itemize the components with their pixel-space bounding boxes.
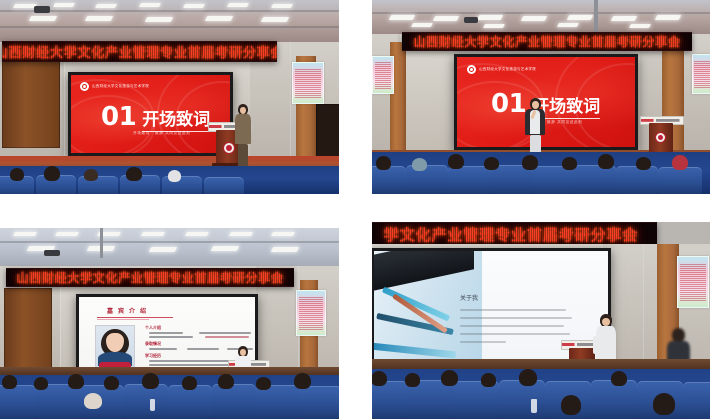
slide-logo: 山西财经大学文化旅游与艺术学院	[467, 65, 536, 74]
slide-bullet-3: 学习经历	[145, 353, 161, 359]
slide-bullet-2: 录取情况	[145, 341, 161, 347]
dark-doorway	[316, 104, 339, 162]
wall-poster	[677, 256, 709, 308]
audience-area	[0, 367, 339, 419]
audience-area	[371, 359, 710, 419]
auditorium-scene: 山西财经大学文化产业管理专业首届考研分享会 山西财经大学文化旅游与艺术学院 01…	[372, 0, 710, 194]
slide-number: 01	[101, 104, 136, 130]
row-gutter-right	[371, 194, 710, 222]
slide-heading: 开场致词	[142, 112, 210, 132]
photo-bottom-right[interactable]: 学文化产业管理专业首届考研分享会 关于我	[371, 222, 710, 419]
wall-poster	[372, 56, 394, 94]
projector-pipe	[594, 0, 598, 34]
projector-icon	[44, 250, 60, 256]
led-banner: 山西财经大学文化产业管理专业首届考研分享会	[6, 268, 294, 287]
wall-poster	[292, 62, 324, 104]
stage-led-screen: 山西财经大学文化旅游与艺术学院 01 开场致词 开场致词 · 致辞 共同见证此刻	[454, 54, 638, 150]
led-banner: 山西财经大学文化产业管理专业首届考研分享会	[2, 41, 277, 62]
auditorium-scene: 学文化产业管理专业首届考研分享会 关于我	[371, 222, 710, 419]
audience-area	[372, 152, 710, 194]
wall-poster	[692, 54, 710, 94]
slide-number: 01	[491, 91, 526, 117]
slide-headline: 01 开场致词	[101, 104, 210, 132]
row-gutter-left	[0, 194, 339, 228]
slide-logo-text: 山西财经大学文化旅游与艺术学院	[479, 67, 536, 72]
slide-title: 嘉宾介绍	[107, 306, 151, 315]
photo-top-left[interactable]: 山西财经大学文化产业管理专业首届考研分享会 山西财经大学文化旅游与艺术学院 01…	[0, 0, 339, 194]
ceiling	[0, 0, 339, 42]
auditorium-scene: 山西财经大学文化产业管理专业首届考研分享会 山西财经大学文化旅游与艺术学院 01…	[0, 0, 339, 194]
speaker-standing	[524, 98, 546, 158]
slide-logo-text: 山西财经大学文化旅游与艺术学院	[92, 84, 149, 89]
slide-bullet-1: 个人介绍	[145, 325, 161, 331]
slide-subtitle: 开场致词 · 致辞 共同见证此刻	[133, 131, 190, 136]
guest-headshot	[95, 325, 135, 371]
led-banner-text: 山西财经大学文化产业管理专业首届考研分享会	[413, 33, 680, 50]
slide-logo: 山西财经大学文化旅游与艺术学院	[80, 82, 149, 91]
projector-icon	[464, 17, 478, 23]
led-banner-text: 山西财经大学文化产业管理专业首届考研分享会	[16, 269, 283, 286]
projector-icon	[34, 6, 50, 13]
led-banner-text: 山西财经大学文化产业管理专业首届考研分享会	[2, 42, 277, 61]
led-banner: 学文化产业管理专业首届考研分享会	[371, 222, 657, 246]
audience-area	[0, 166, 339, 194]
side-door	[4, 288, 52, 374]
wall-poster	[296, 290, 326, 336]
photo-collage-page: 山西财经大学文化产业管理专业首届考研分享会 山西财经大学文化旅游与艺术学院 01…	[0, 0, 710, 419]
water-bottle	[150, 399, 155, 411]
university-emblem-icon	[467, 65, 476, 74]
photo-bottom-left[interactable]: 山西财经大学文化产业管理专业首届考研分享会 嘉宾介绍 个人介绍	[0, 228, 339, 419]
stage-led-screen: 山西财经大学文化旅游与艺术学院 01 开场致词 开场致词 · 致辞 共同见证此刻	[68, 72, 233, 156]
auditorium-scene: 山西财经大学文化产业管理专业首届考研分享会 嘉宾介绍 个人介绍	[0, 228, 339, 419]
led-banner-text: 学文化产业管理专业首届考研分享会	[384, 224, 638, 245]
ceiling	[0, 228, 339, 266]
podium-emblem-icon	[655, 132, 666, 143]
water-bottle	[531, 399, 537, 413]
photo-top-right[interactable]: 山西财经大学文化产业管理专业首届考研分享会 山西财经大学文化旅游与艺术学院 01…	[372, 0, 710, 194]
projector-pipe	[100, 228, 103, 258]
led-banner: 山西财经大学文化产业管理专业首届考研分享会	[402, 32, 692, 51]
ceiling	[372, 0, 710, 34]
speaker-at-podium	[234, 104, 252, 166]
slide-title: 关于我	[460, 293, 478, 302]
column-gutter	[339, 0, 372, 419]
university-emblem-icon	[80, 82, 89, 91]
side-door	[2, 60, 60, 148]
